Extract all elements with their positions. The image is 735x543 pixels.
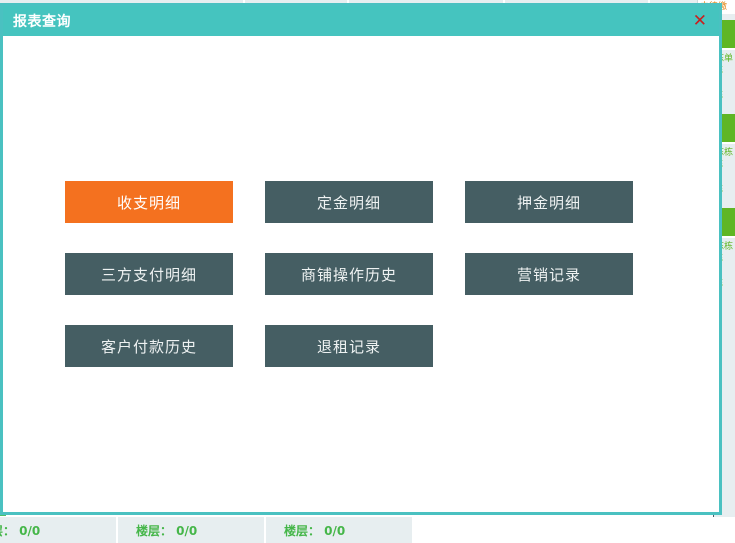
status-cell-floor-2: 楼层： 0/0 xyxy=(118,517,264,543)
status-cell-text: 层： 0/0 xyxy=(0,522,40,539)
report-button-shop-operation-history[interactable]: 商铺操作历史 xyxy=(265,253,433,295)
status-cell-floor-3: 楼层： 0/0 xyxy=(266,517,412,543)
status-bar: 层： 0/0 楼层： 0/0 楼层： 0/0 xyxy=(0,517,735,543)
dialog-title: 报表查询 xyxy=(13,11,71,31)
status-cell-text: 楼层： 0/0 xyxy=(284,522,345,539)
report-button-security-deposit-detail[interactable]: 押金明细 xyxy=(465,181,633,223)
status-cell-empty xyxy=(414,517,735,543)
status-cell-text: 楼层： 0/0 xyxy=(136,522,197,539)
close-icon[interactable]: ✕ xyxy=(689,13,711,30)
report-button-customer-payment-history[interactable]: 客户付款历史 xyxy=(65,325,233,367)
report-button-marketing-records[interactable]: 营销记录 xyxy=(465,253,633,295)
report-button-row-3: 客户付款历史 退租记录 xyxy=(65,325,665,367)
report-button-third-party-payment-detail[interactable]: 三方支付明细 xyxy=(65,253,233,295)
report-button-row-1: 收支明细 定金明细 押金明细 xyxy=(65,181,665,223)
report-button-deposit-detail[interactable]: 定金明细 xyxy=(265,181,433,223)
dialog-titlebar[interactable]: 报表查询 ✕ xyxy=(0,3,722,36)
report-button-lease-termination-records[interactable]: 退租记录 xyxy=(265,325,433,367)
report-button-income-expense-detail[interactable]: 收支明细 xyxy=(65,181,233,223)
report-button-grid: 收支明细 定金明细 押金明细 三方支付明细 商铺操作历史 营销记录 客户付款历史… xyxy=(65,181,665,397)
report-button-row-2: 三方支付明细 商铺操作历史 营销记录 xyxy=(65,253,665,295)
report-query-dialog: 报表查询 ✕ 收支明细 定金明细 押金明细 三方支付明细 商铺操作历史 营销记录… xyxy=(0,3,722,515)
dialog-body: 收支明细 定金明细 押金明细 三方支付明细 商铺操作历史 营销记录 客户付款历史… xyxy=(3,36,719,509)
status-cell-floor-1: 层： 0/0 xyxy=(0,517,116,543)
